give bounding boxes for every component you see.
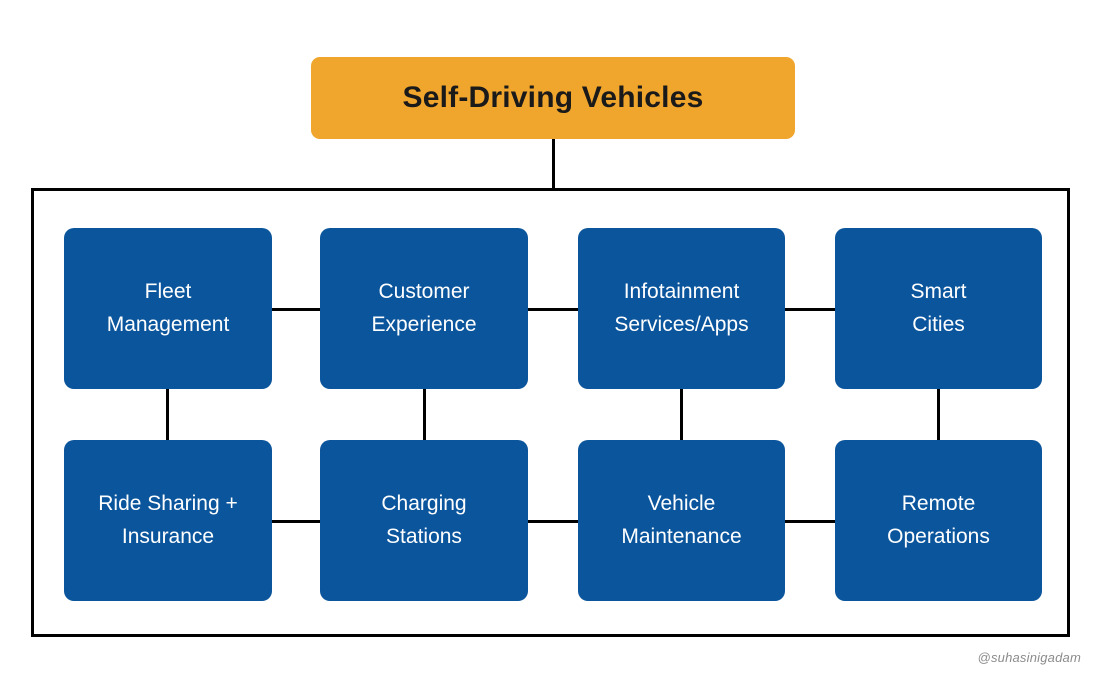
node-vehicle-maintenance-label: Vehicle Maintenance [613, 488, 749, 553]
connector-fleet-management-to-ride-sharing [166, 387, 169, 442]
connector-customer-experience-to-charging-stations [423, 387, 426, 442]
node-remote-operations-label: Remote Operations [879, 488, 998, 553]
node-infotainment-services-apps[interactable]: Infotainment Services/Apps [578, 228, 785, 389]
node-infotainment-services-apps-label: Infotainment Services/Apps [606, 276, 756, 341]
connector-root-to-frame [552, 139, 555, 191]
connector-vehicle-maintenance-to-remote-operations [783, 520, 837, 523]
node-ride-sharing-insurance[interactable]: Ride Sharing + Insurance [64, 440, 272, 601]
node-charging-stations-label: Charging Stations [373, 488, 474, 553]
node-vehicle-maintenance[interactable]: Vehicle Maintenance [578, 440, 785, 601]
node-remote-operations[interactable]: Remote Operations [835, 440, 1042, 601]
connector-infotainment-services-to-smart-cities [783, 308, 837, 311]
root-node-label: Self-Driving Vehicles [403, 81, 704, 116]
connector-smart-cities-to-remote-operations [937, 387, 940, 442]
author-watermark: @suhasinigadam [978, 650, 1081, 665]
connector-customer-experience-to-infotainment-services [526, 308, 580, 311]
diagram-canvas: Self-Driving Vehicles Fleet Management C… [0, 0, 1103, 695]
root-node-self-driving-vehicles[interactable]: Self-Driving Vehicles [311, 57, 795, 139]
connector-infotainment-services-to-vehicle-maintenance [680, 387, 683, 442]
node-fleet-management[interactable]: Fleet Management [64, 228, 272, 389]
connector-charging-stations-to-vehicle-maintenance [526, 520, 580, 523]
node-customer-experience-label: Customer Experience [363, 276, 484, 341]
connector-fleet-management-to-customer-experience [270, 308, 322, 311]
node-fleet-management-label: Fleet Management [99, 276, 238, 341]
node-charging-stations[interactable]: Charging Stations [320, 440, 528, 601]
connector-ride-sharing-to-charging-stations [270, 520, 322, 523]
node-smart-cities[interactable]: Smart Cities [835, 228, 1042, 389]
node-ride-sharing-insurance-label: Ride Sharing + Insurance [90, 488, 246, 553]
node-smart-cities-label: Smart Cities [902, 276, 974, 341]
node-customer-experience[interactable]: Customer Experience [320, 228, 528, 389]
